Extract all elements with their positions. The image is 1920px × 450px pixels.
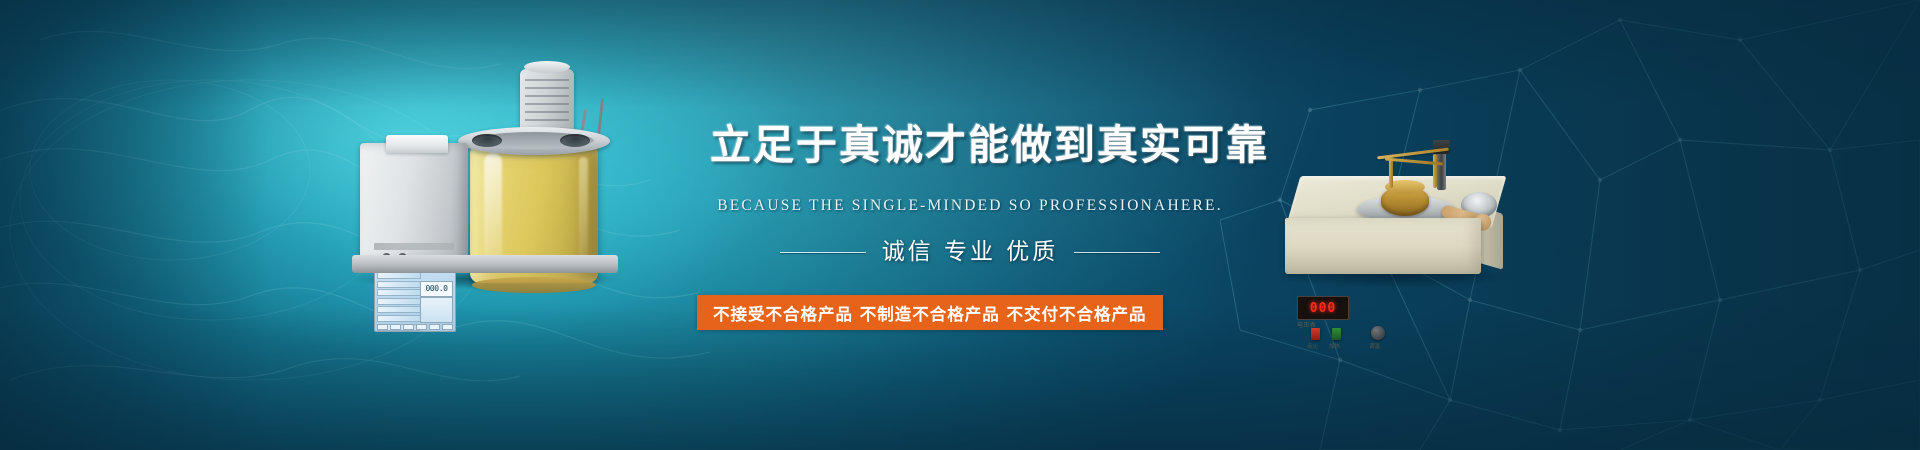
tester-temperature-knob[interactable]	[1371, 326, 1385, 340]
viscometer-screen-readout: 000.0	[420, 281, 453, 297]
tester-switch-label-heat: 加热	[1329, 342, 1340, 350]
tester-stirrer-shaft	[1437, 148, 1446, 190]
viscometer-screen-table	[377, 272, 421, 322]
tester-led-display: 000	[1297, 296, 1349, 320]
viscometer-top-vent	[386, 135, 448, 153]
tester-knob-label: 调温	[1369, 342, 1380, 350]
viscometer-instrument-image: 石油产品运动粘度自动测定仪 000.0	[360, 55, 640, 305]
tester-switch-row	[1311, 328, 1341, 340]
tester-ignition-switch[interactable]	[1311, 328, 1320, 340]
viscometer-oil-bath	[464, 127, 604, 267]
background-vignette	[0, 0, 1920, 450]
tester-front-panel: 000 电压表 点火 加热 调温	[1285, 218, 1481, 274]
flash-point-tester-image: 000 电压表 点火 加热 调温	[1285, 148, 1505, 308]
viscometer-base-plinth	[352, 255, 618, 273]
viscometer-beaker-base	[472, 277, 596, 293]
tester-switch-label-ignition: 点火	[1307, 342, 1318, 350]
promo-banner: 石油产品运动粘度自动测定仪 000.0	[0, 0, 1920, 450]
viscometer-tube-port-right	[560, 134, 590, 147]
tester-heat-switch[interactable]	[1332, 328, 1341, 340]
viscometer-stirrer-motor	[520, 69, 574, 131]
viscometer-front-label	[374, 243, 454, 250]
tester-led-value: 000	[1310, 302, 1336, 315]
viscometer-screen-side-panel	[420, 297, 453, 323]
viscometer-stirrer-cap	[524, 61, 570, 73]
viscometer-screen-buttons	[377, 324, 453, 330]
viscometer-tube-port-left	[472, 134, 502, 147]
